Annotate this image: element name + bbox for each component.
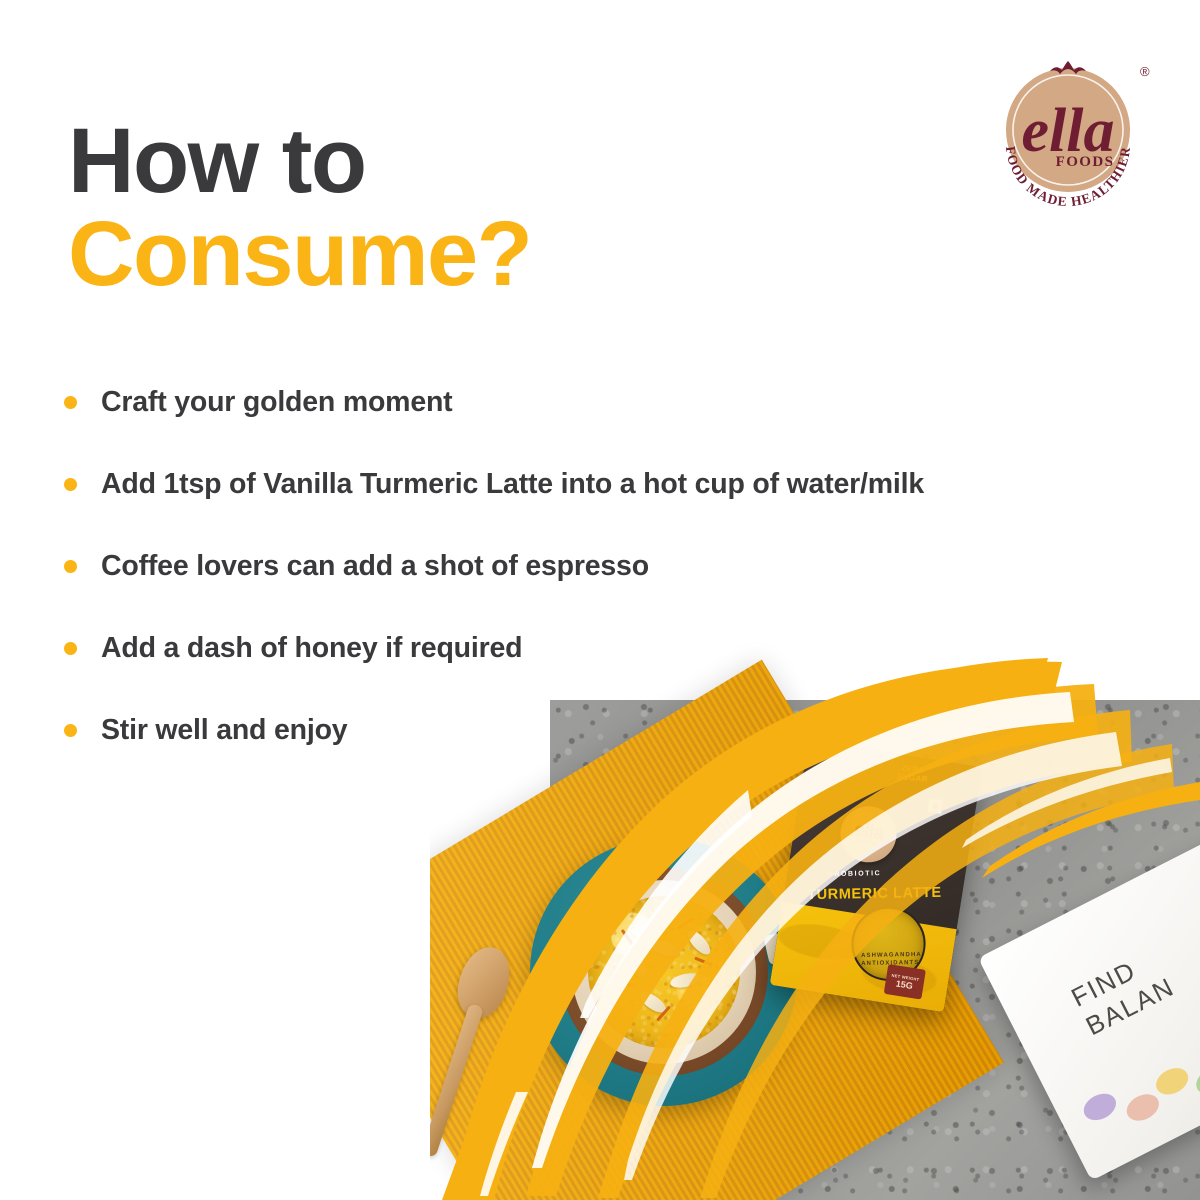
- pebble-icon: [1079, 1088, 1120, 1125]
- list-item: Add 1tsp of Vanilla Turmeric Latte into …: [64, 460, 1154, 508]
- bullet-dot-icon: [64, 396, 77, 409]
- calorie-unit: CAL: [809, 773, 820, 791]
- balance-box-text: FIND BALAN: [1066, 942, 1180, 1042]
- title-line-2: Consume?: [68, 211, 531, 298]
- net-weight-badge: NET WEIGHT 15G: [884, 964, 926, 1000]
- bullet-dot-icon: [64, 642, 77, 655]
- calorie-badge: 20 CAL: [808, 773, 820, 802]
- almond-sliver-icon: [669, 971, 701, 990]
- veg-dot: [932, 802, 939, 809]
- sachet-brand-logo: ella FOODS: [836, 802, 900, 866]
- calorie-value: 20: [807, 791, 817, 801]
- list-item-label: Craft your golden moment: [101, 386, 452, 419]
- cup-outer: [560, 868, 768, 1076]
- vegetarian-mark-icon: [927, 797, 944, 814]
- almond-sliver-icon: [629, 914, 662, 940]
- list-item-label: Stir well and enjoy: [101, 714, 347, 747]
- pebble-icon: [1152, 1063, 1193, 1100]
- saucer: [530, 838, 798, 1106]
- turmeric-latte: [588, 896, 740, 1048]
- logo-sub-text: FOODS: [1056, 154, 1115, 170]
- pebble-icon: [1192, 1063, 1200, 1100]
- pebble-icon: [1122, 1089, 1163, 1126]
- net-weight-value: 15G: [895, 978, 913, 991]
- product-photo: FIND BALAN: [430, 640, 1200, 1200]
- zero-sugar-line-2: SUGAR: [897, 773, 929, 784]
- brand-logo: ella FOODS FOOD MADE HEALTHIER ®: [988, 48, 1156, 216]
- almond-sliver-icon: [684, 927, 714, 958]
- zero-sugar-badge: ZERO SUGAR: [897, 764, 929, 784]
- photo-clip: FIND BALAN: [430, 640, 1200, 1200]
- saffron-strand-icon: [694, 957, 713, 967]
- registered-trademark-icon: ®: [1140, 64, 1150, 79]
- saffron-strand-icon: [677, 917, 694, 930]
- list-item-label: Add 1tsp of Vanilla Turmeric Latte into …: [101, 468, 924, 501]
- saffron-strand-icon: [612, 980, 631, 987]
- page-title: How to Consume?: [68, 118, 531, 299]
- list-item-label: Coffee lovers can add a shot of espresso: [101, 550, 649, 583]
- bullet-dot-icon: [64, 560, 77, 573]
- bullet-dot-icon: [64, 478, 77, 491]
- list-item: Coffee lovers can add a shot of espresso: [64, 542, 1154, 590]
- list-item: Craft your golden moment: [64, 378, 1154, 426]
- title-line-1: How to: [68, 118, 531, 205]
- cup-rim: [572, 880, 756, 1064]
- almond-sliver-icon: [649, 938, 682, 960]
- almond-sliver-icon: [624, 948, 650, 981]
- poster-canvas: How to Consume? Craft your golden moment…: [0, 0, 1200, 1200]
- sachet-product-title: TURMERIC LATTE: [807, 885, 942, 903]
- brand-logo-icon: ella FOODS FOOD MADE HEALTHIER ®: [988, 48, 1156, 216]
- sachet-probiotic-label: PROBIOTIC: [828, 870, 881, 878]
- bullet-dot-icon: [64, 724, 77, 737]
